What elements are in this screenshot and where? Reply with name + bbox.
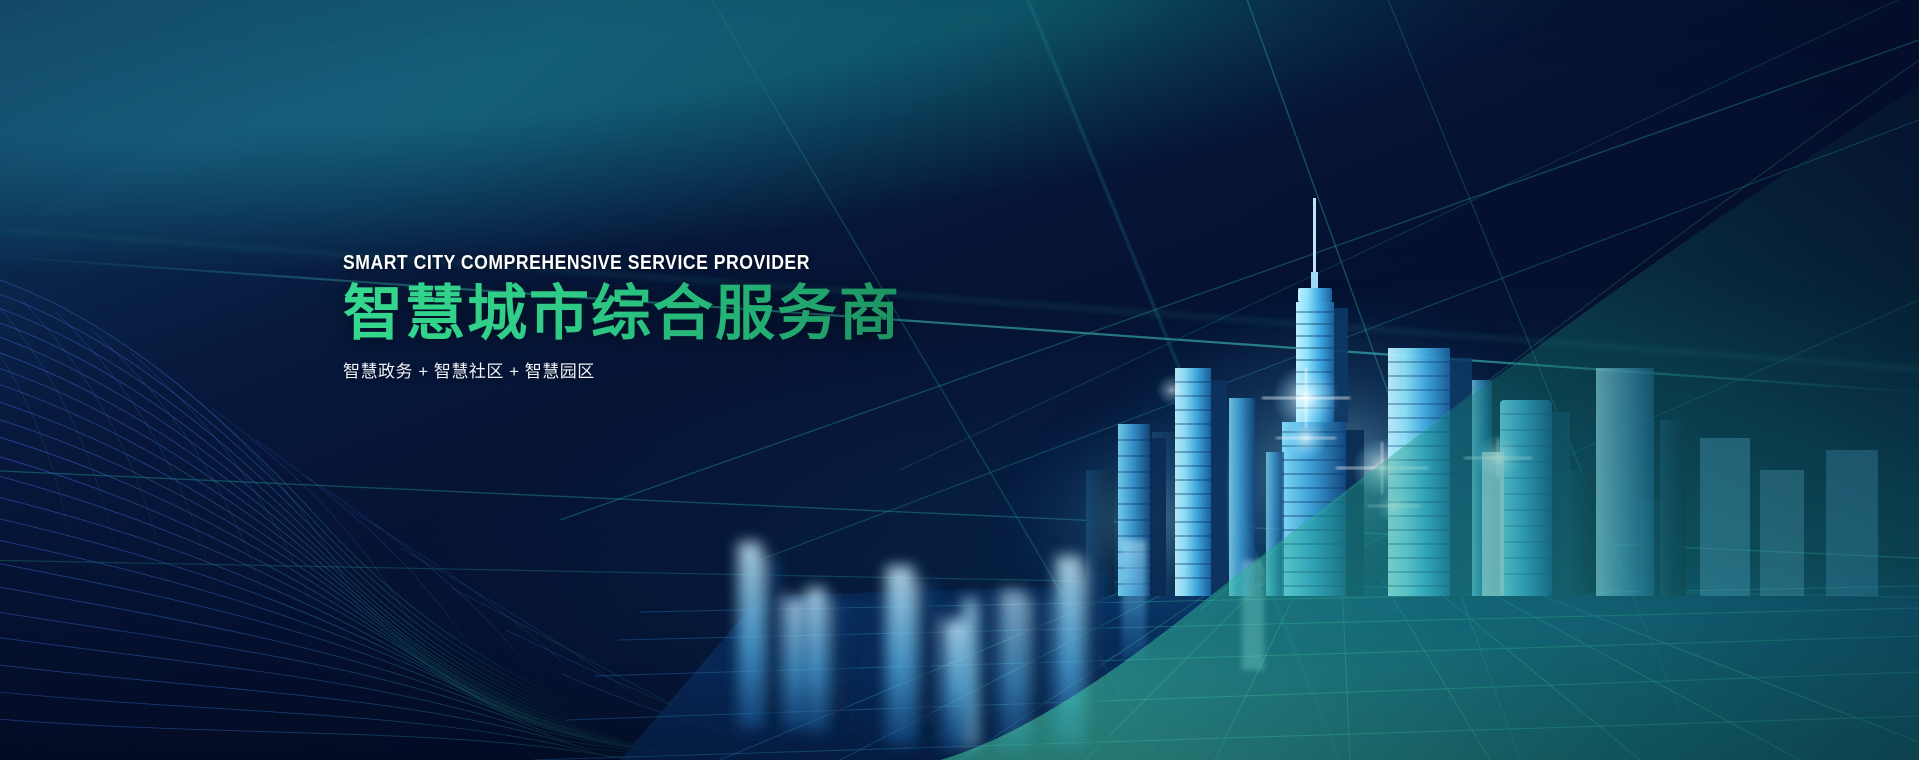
eyebrow-tagline: SMART CITY COMPREHENSIVE SERVICE PROVIDE… xyxy=(343,252,1012,274)
hero-copy: SMART CITY COMPREHENSIVE SERVICE PROVIDE… xyxy=(343,252,1103,382)
hero-banner: SMART CITY COMPREHENSIVE SERVICE PROVIDE… xyxy=(0,0,1919,760)
sub-tagline: 智慧政务 + 智慧社区 + 智慧园区 xyxy=(343,357,1103,382)
page-title: 智慧城市综合服务商 xyxy=(343,282,1103,347)
